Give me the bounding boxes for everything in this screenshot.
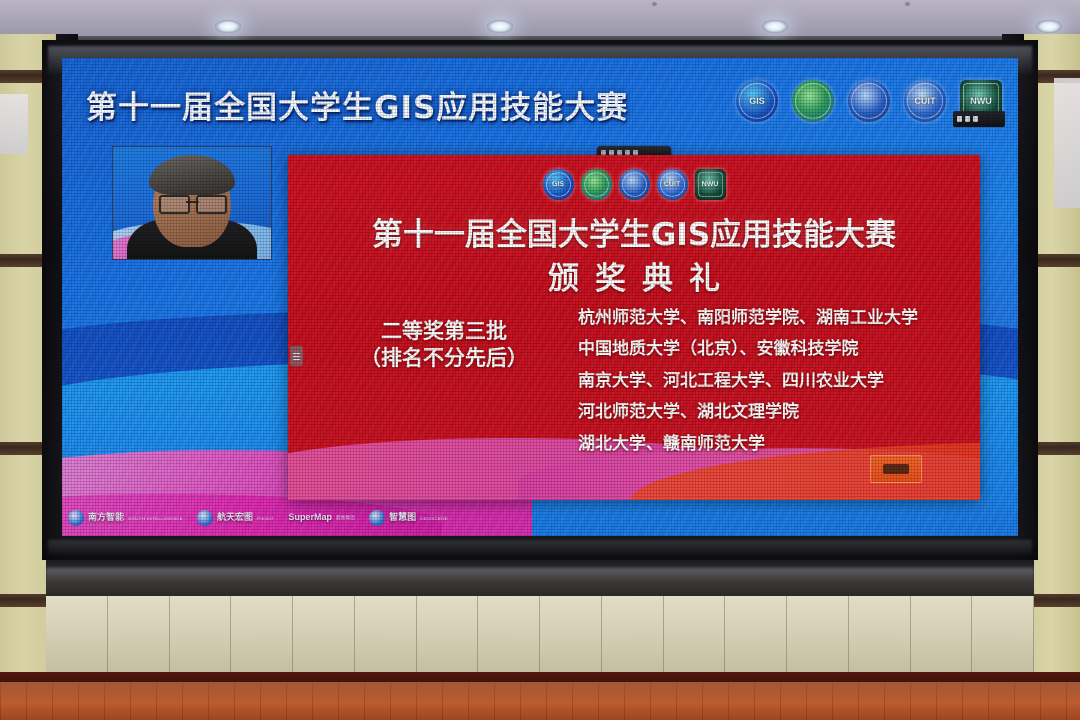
ceiling-downlight xyxy=(215,20,241,33)
slide-subtitle: 颁奖典礼 xyxy=(288,253,980,298)
bezel-bottom-reflection xyxy=(48,540,1032,556)
sponsor-subtitle: PIESAT xyxy=(257,516,274,521)
winner-line: 中国地质大学（北京）、安徽科技学院 xyxy=(578,334,918,365)
stage-panel xyxy=(911,596,973,674)
led-screen[interactable]: 第十一届全国大学生GIS应用技能大赛 GIS CUIT NWU xyxy=(62,58,1018,536)
gis-association-logo: GIS xyxy=(736,80,778,122)
sponsor-name: 南方智能 xyxy=(88,513,124,522)
stage-panel xyxy=(46,596,108,674)
ceiling-downlight xyxy=(487,20,513,33)
slide-corner-badge[interactable] xyxy=(870,455,922,483)
stage-panel xyxy=(355,596,417,674)
award-label-line-2: （排名不分先后） xyxy=(334,345,554,372)
slide-title: 第十一届全国大学生GIS应用技能大赛 xyxy=(288,209,980,254)
stage-panel xyxy=(787,596,849,674)
gis-logo-text: GIS xyxy=(552,181,564,188)
nwu-logo-text: NWU xyxy=(970,96,992,106)
wall-white-panel xyxy=(1054,78,1080,208)
nwu-logo-text: NWU xyxy=(702,181,719,188)
gis-association-logo: GIS xyxy=(543,169,574,200)
stage-panel xyxy=(108,596,170,674)
sponsor-name: 智慧图 xyxy=(389,513,416,522)
ceiling-fixture-dot xyxy=(652,2,657,6)
slide-logo-row: GIS CUIT NWU xyxy=(288,169,980,200)
sponsor-mark-icon xyxy=(369,510,385,526)
sponsor-name: 航天宏图 xyxy=(217,513,253,522)
stage-panel xyxy=(478,596,540,674)
remote-participant-video-tile[interactable] xyxy=(112,146,272,260)
sponsor-mark-icon xyxy=(68,510,84,526)
sponsor-item: 智慧图 GEOSCENE xyxy=(369,510,448,526)
ceiling-fixture-dot xyxy=(905,2,910,6)
stage-header-trim xyxy=(46,560,1034,596)
floor-reflection-sheen xyxy=(0,682,1080,720)
widget-icon[interactable] xyxy=(965,116,970,122)
stage-panel xyxy=(417,596,479,674)
winner-line: 河北师范大学、湖北文理学院 xyxy=(578,397,918,428)
university-logo xyxy=(619,169,650,200)
ceiling-downlight xyxy=(1036,20,1062,33)
stage-panel xyxy=(849,596,911,674)
wall-white-panel xyxy=(0,94,28,154)
nwu-logo: NWU xyxy=(695,169,726,200)
sponsor-item: SuperMap 超图集团 xyxy=(288,513,355,522)
award-category-label: 二等奖第三批 （排名不分先后） xyxy=(334,318,554,372)
widget-icon[interactable] xyxy=(957,116,962,122)
sponsor-subtitle: GEOSCENE xyxy=(420,516,448,521)
slide-side-tab-handle[interactable] xyxy=(290,346,303,366)
ceiling-downlight xyxy=(762,20,788,33)
stage-panel-wall xyxy=(46,596,1034,674)
sponsor-subtitle: 超图集团 xyxy=(336,515,355,521)
cuit-logo-text: CUIT xyxy=(664,181,680,188)
sponsor-item: 航天宏图 PIESAT xyxy=(197,510,275,526)
stage-panel xyxy=(231,596,293,674)
award-label-line-1: 二等奖第三批 xyxy=(334,318,554,345)
winner-line: 杭州师范大学、南阳师范学院、湖南工业大学 xyxy=(578,303,918,334)
winner-university-list: 杭州师范大学、南阳师范学院、湖南工业大学 中国地质大学（北京）、安徽科技学院 南… xyxy=(578,303,918,460)
stage-panel xyxy=(725,596,787,674)
stage-panel xyxy=(293,596,355,674)
cuit-logo: CUIT xyxy=(657,169,688,200)
stage-panel xyxy=(170,596,232,674)
award-ceremony-slide[interactable]: GIS CUIT NWU 第十一届全国大学生GIS应用技能大赛 颁奖典礼 二等奖… xyxy=(288,155,980,500)
winner-line: 湖北大学、赣南师范大学 xyxy=(578,429,918,460)
sponsor-item: 南方智能 SOUTH INTELLIGENCE xyxy=(68,510,183,526)
sponsor-mark-icon xyxy=(197,510,213,526)
sponsor-logo-strip: 南方智能 SOUTH INTELLIGENCE 航天宏图 PIESAT Supe… xyxy=(68,510,448,526)
participant-glasses-icon xyxy=(159,195,227,211)
university-logo xyxy=(848,80,890,122)
stage-panel xyxy=(972,596,1034,674)
event-banner-title: 第十一届全国大学生GIS应用技能大赛 xyxy=(86,82,628,127)
stage-panel xyxy=(540,596,602,674)
gis-logo-text: GIS xyxy=(749,96,765,106)
screen-corner-widget[interactable] xyxy=(953,111,1005,127)
conference-hall-scene: 第十一届全国大学生GIS应用技能大赛 GIS CUIT NWU xyxy=(0,0,1080,720)
winner-line: 南京大学、河北工程大学、四川农业大学 xyxy=(578,366,918,397)
cuit-logo: CUIT xyxy=(904,80,946,122)
stage-panel xyxy=(664,596,726,674)
stage-panel xyxy=(602,596,664,674)
sponsor-subtitle: SOUTH INTELLIGENCE xyxy=(128,516,183,521)
widget-icon[interactable] xyxy=(973,116,978,122)
sponsor-name: SuperMap xyxy=(288,513,332,522)
geography-society-logo xyxy=(792,80,834,122)
cuit-logo-text: CUIT xyxy=(915,96,936,106)
geography-society-logo xyxy=(581,169,612,200)
